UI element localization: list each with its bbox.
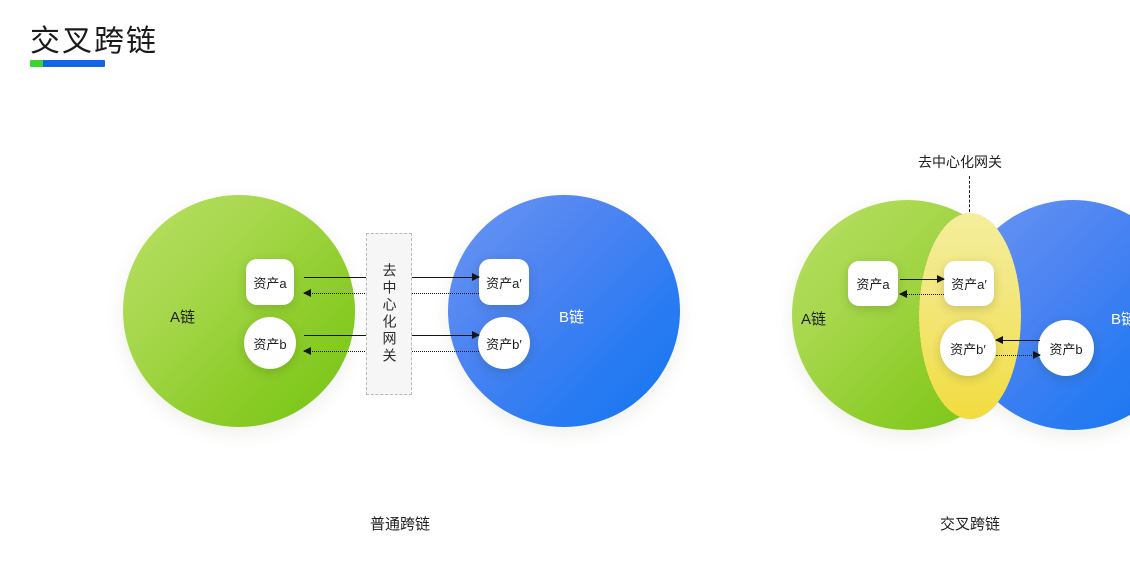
chain-a-circle — [123, 195, 355, 427]
arrow-head-right — [472, 273, 480, 281]
figure-ordinary-cross-chain: A链 B链 资产a 资产b 资产a′ 资产b′ 去中心化网关 普通跨链 — [0, 0, 700, 586]
asset-node-b-prime[interactable]: 资产b′ — [478, 317, 530, 369]
asset-node-a-prime[interactable]: 资产a′ — [479, 259, 529, 305]
asset-node-b-prime[interactable]: 资产b′ — [940, 320, 996, 376]
asset-node-b[interactable]: 资产b — [244, 317, 296, 369]
arrow-head-left — [303, 289, 311, 297]
arrow-head-left — [995, 336, 1003, 344]
chain-a-label: A链 — [170, 306, 195, 327]
chain-b-label: B链 — [559, 306, 584, 327]
asset-node-a[interactable]: 资产a — [848, 261, 898, 306]
gateway-leader-line — [969, 176, 970, 212]
figure-crossed-cross-chain: A链 B链 去中心化网关 资产a 资产a′ 资产b′ 资产b 交叉跨链 — [700, 0, 1130, 586]
gateway-label: 去中心化网关 — [918, 152, 1002, 172]
asset-node-a[interactable]: 资产a — [246, 259, 294, 305]
figure-caption-crossed: 交叉跨链 — [890, 513, 1050, 534]
figure-caption-ordinary: 普通跨链 — [300, 513, 500, 534]
chain-b-label: B链 — [1111, 308, 1130, 329]
arrow-head-left — [303, 347, 311, 355]
gateway-label: 去中心化网关 — [379, 263, 400, 365]
asset-node-a-prime[interactable]: 资产a′ — [944, 261, 994, 306]
arrow-head-right — [937, 275, 945, 283]
arrow-head-right — [472, 331, 480, 339]
arrow-head-left — [899, 290, 907, 298]
asset-node-b[interactable]: 资产b — [1038, 320, 1094, 376]
arrow-head-right — [1033, 351, 1041, 359]
chain-a-label: A链 — [801, 308, 826, 329]
decentralized-gateway-box[interactable]: 去中心化网关 — [366, 233, 412, 395]
slide-canvas: 交叉跨链 A链 B链 资产a 资产b 资产a′ 资产b′ — [0, 0, 1130, 586]
